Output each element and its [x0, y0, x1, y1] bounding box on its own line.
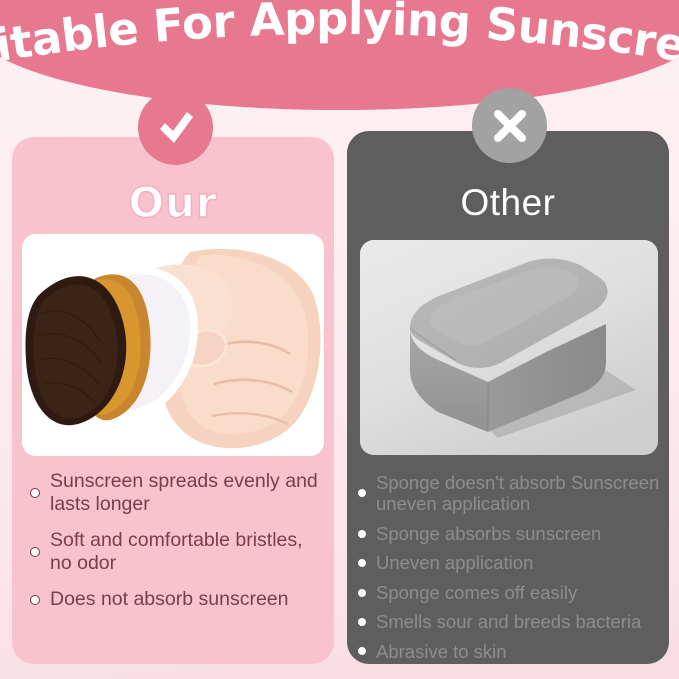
list-item: Sunscreen spreads evenly and lasts longe…	[30, 470, 322, 515]
gray-sponge-photo	[360, 240, 658, 455]
list-item: Sponge absorbs sunscreen	[358, 523, 660, 544]
product-image-our	[22, 234, 324, 456]
list-item-label: Smells sour and breeds bacteria	[376, 611, 641, 632]
bullet-dot-icon	[358, 647, 366, 655]
bullet-dot-icon	[358, 589, 366, 597]
makeup-brush-photo	[22, 234, 324, 456]
bullet-dot-icon	[358, 530, 366, 538]
check-icon	[153, 105, 199, 151]
list-item: Sponge doesn't absorb Sunscreen uneven a…	[358, 472, 660, 515]
list-item: Sponge comes off easily	[358, 582, 660, 603]
bullet-dot-icon	[30, 547, 40, 557]
list-item-label: Uneven application	[376, 552, 533, 573]
check-badge	[138, 90, 213, 165]
bullet-dot-icon	[358, 618, 366, 626]
list-item: Smells sour and breeds bacteria	[358, 611, 660, 632]
list-item: Abrasive to skin	[358, 641, 660, 662]
comparison-cards: Our Other	[0, 0, 679, 679]
card-our-heading: Our	[12, 178, 334, 227]
close-icon	[490, 106, 530, 146]
list-item-label: Sponge doesn't absorb Sunscreen uneven a…	[376, 472, 660, 515]
bullet-dot-icon	[30, 595, 40, 605]
bullet-dot-icon	[358, 559, 366, 567]
bullet-dot-icon	[30, 488, 40, 498]
product-image-other	[360, 240, 658, 455]
list-item-label: Sponge comes off easily	[376, 582, 577, 603]
bullet-list-our: Sunscreen spreads evenly and lasts longe…	[30, 470, 322, 625]
list-item-label: Sponge absorbs sunscreen	[376, 523, 601, 544]
list-item: Does not absorb sunscreen	[30, 588, 322, 611]
comparison-poster: Suitable For Applying Sunscreen Suitable…	[0, 0, 679, 679]
list-item: Soft and comfortable bristles, no odor	[30, 529, 322, 574]
bullet-dot-icon	[358, 489, 366, 497]
list-item: Uneven application	[358, 552, 660, 573]
bullet-list-other: Sponge doesn't absorb Sunscreen uneven a…	[358, 472, 660, 670]
card-other-heading: Other	[347, 182, 669, 224]
list-item-label: Abrasive to skin	[376, 641, 507, 662]
list-item-label: Sunscreen spreads evenly and lasts longe…	[50, 470, 322, 515]
list-item-label: Soft and comfortable bristles, no odor	[50, 529, 322, 574]
cross-badge	[472, 88, 547, 163]
list-item-label: Does not absorb sunscreen	[50, 588, 288, 611]
